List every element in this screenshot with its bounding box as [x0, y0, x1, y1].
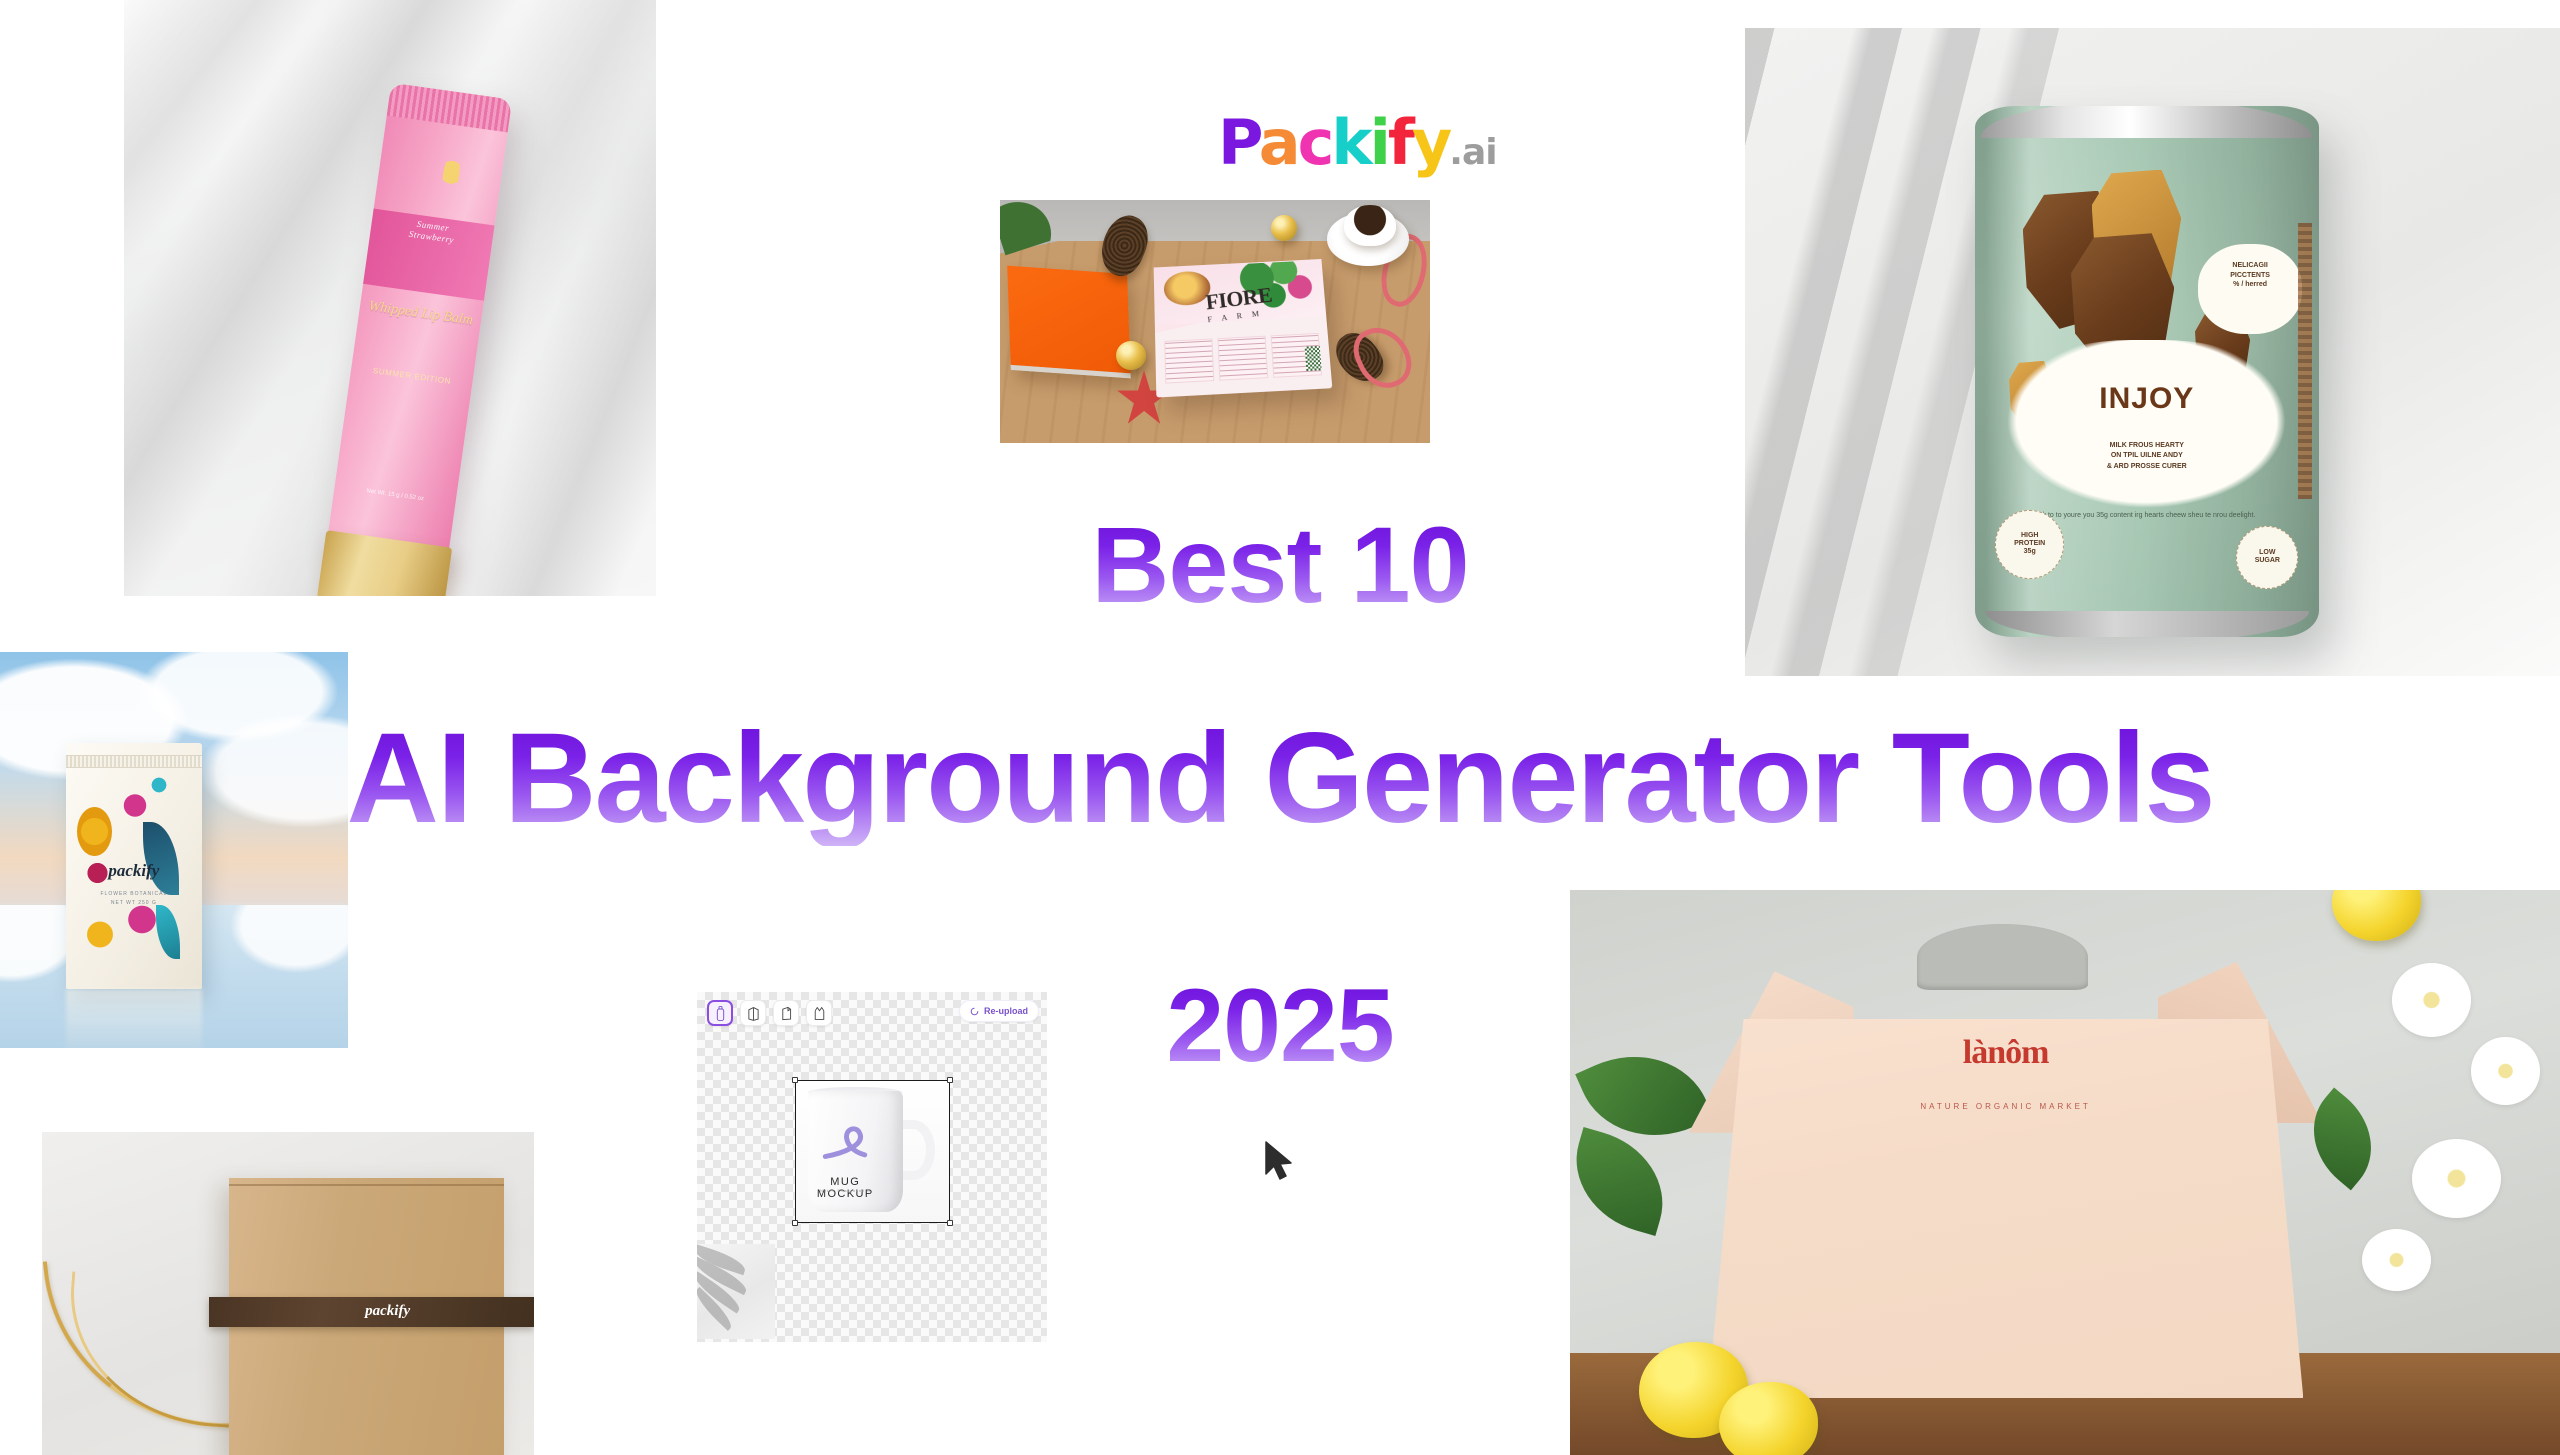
box-icon — [747, 1006, 760, 1021]
coffee-cup — [1344, 205, 1396, 246]
packify-belly-band: packify — [209, 1297, 534, 1327]
packify-letter-a: a — [1259, 106, 1298, 179]
resize-handle-tl[interactable] — [792, 1077, 798, 1083]
tool-box-button[interactable] — [740, 1000, 766, 1026]
packify-logo: Packify.ai — [1218, 112, 1497, 174]
swirl-logo-icon — [822, 1113, 871, 1169]
resize-handle-tr[interactable] — [947, 1077, 953, 1083]
packify-letter-k: k — [1331, 106, 1369, 179]
lanom-tagline: NATURE ORGANIC MARKET — [1708, 1102, 2304, 1111]
bottle-icon — [714, 1006, 727, 1021]
pouch-brand-name: packify — [66, 861, 201, 881]
kraft-brand-name: packify — [209, 1297, 534, 1326]
leaf-motif — [156, 905, 180, 959]
can-side-stripe — [2298, 223, 2312, 499]
packify-letter-i: i — [1370, 106, 1388, 179]
packify-letter-f: f — [1388, 106, 1412, 179]
fiore-info-panel — [1164, 338, 1215, 384]
floral-motif — [85, 910, 115, 959]
re-upload-label: Re-upload — [984, 1006, 1028, 1016]
can-lid — [1981, 106, 2312, 138]
tube-product-name: Whipped Lip Balm — [366, 298, 475, 329]
white-blossom — [2412, 1139, 2501, 1218]
packify-letter-P: P — [1218, 106, 1259, 179]
product-photo-circle — [1164, 270, 1211, 306]
box-seam — [229, 1184, 505, 1186]
folk-illustration — [1708, 1148, 2304, 1399]
headline-year: 2025 — [0, 972, 2560, 1081]
headline-line-1: Best 10 — [0, 508, 2560, 621]
qr-code-icon — [1304, 346, 1321, 371]
leaf-shadow-thumbnail[interactable] — [697, 1244, 775, 1339]
poster-canvas: Summer Strawberry Whipped Lip Balm SUMME… — [0, 0, 2560, 1455]
botanical-illustration — [339, 1371, 499, 1455]
photo-packify-kraft-box: packify — [42, 1132, 534, 1455]
photo-lip-balm-tube: Summer Strawberry Whipped Lip Balm SUMME… — [124, 0, 656, 596]
can-tagline: MILK FROUS HEARTY ON TPIL UILNE ANDY & A… — [2002, 441, 2291, 473]
tool-bottle-button[interactable] — [707, 1000, 733, 1026]
white-blossom — [2362, 1229, 2431, 1291]
resize-handle-br[interactable] — [947, 1220, 953, 1226]
pouch-subtitle: FLOWER BOTANICAL NET WT 250 G — [66, 890, 201, 908]
tube-flavor-band: Summer Strawberry — [363, 208, 495, 300]
packify-logo-suffix: .ai — [1449, 132, 1496, 173]
page-title: AI Background Generator Tools — [0, 712, 2560, 846]
packify-letter-y: y — [1412, 106, 1449, 179]
milk-splash — [1988, 340, 2305, 521]
fiore-box-lid: FIORE F A R M — [1153, 259, 1326, 326]
fiore-box-front — [1158, 322, 1328, 395]
packify-letter-c: c — [1298, 106, 1332, 179]
mug-subtitle-text: Notes Designsmith — [814, 1188, 877, 1193]
can-speech-bubble: NELICAGII PICCTENTS % / herred — [2198, 244, 2301, 334]
selection-frame[interactable]: MUG MOCKUP Notes Designsmith — [795, 1080, 950, 1223]
gold-ornament-ball — [1271, 215, 1297, 242]
tool-carton-button[interactable] — [806, 1000, 832, 1026]
resize-handle-bl[interactable] — [792, 1220, 798, 1226]
orange-book — [1007, 266, 1131, 379]
tool-pouch-button[interactable] — [773, 1000, 799, 1026]
pouch-icon — [780, 1006, 793, 1021]
editor-toolbar — [707, 1000, 832, 1026]
tube-flavor-text: Summer Strawberry — [370, 208, 495, 250]
tube-subtitle: SUMMER EDITION — [351, 362, 473, 388]
can-brand-name: INJOY — [1975, 382, 2319, 416]
carton-icon — [813, 1006, 826, 1021]
mug-body: MUG MOCKUP Notes Designsmith — [808, 1091, 903, 1212]
mockup-editor-canvas[interactable]: Re-upload MUG MOCKUP Notes Designsmith — [697, 992, 1047, 1342]
photo-fiore-gift-box: FIORE F A R M — [1000, 200, 1430, 443]
tube-net-weight: Net Wt. 15 g / 0.52 oz — [334, 484, 456, 507]
fiore-brand-name: FIORE F A R M — [1204, 282, 1274, 324]
refresh-circle-icon — [970, 1007, 979, 1016]
fiore-farm-box: FIORE F A R M — [1153, 259, 1332, 398]
mouse-pointer — [1262, 1140, 1296, 1184]
tube-gold-sparkle-icon — [440, 152, 462, 196]
packify-logo-letters: Packify — [1218, 106, 1449, 179]
re-upload-button[interactable]: Re-upload — [959, 1000, 1039, 1022]
fiore-info-panel — [1217, 335, 1268, 380]
mug-mockup-image: MUG MOCKUP Notes Designsmith — [796, 1081, 949, 1222]
